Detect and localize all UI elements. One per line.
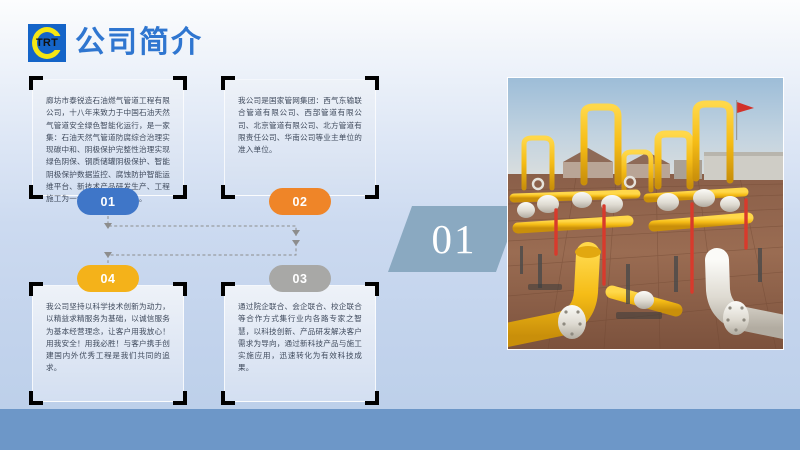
corner-bracket-top-right xyxy=(173,282,187,296)
corner-bracket-top-left xyxy=(221,76,235,90)
content-box-03-text: 通过院企联合、会企联合、校企联合等合作方式集行业内各路专家之智慧，以科技创新、产… xyxy=(238,301,362,375)
content-box-02: 我公司是国家管网集团：西气东输联合管道有限公司、西部管道有限公司、北京管道有限公… xyxy=(224,79,376,196)
corner-bracket-bottom-right xyxy=(365,391,379,405)
footer-band xyxy=(0,409,800,450)
logo-mark-label: TRT xyxy=(28,37,66,49)
corner-bracket-top-left xyxy=(221,282,235,296)
content-box-03: 通过院企联合、会企联合、校企联合等合作方式集行业内各路专家之智慧，以科技创新、产… xyxy=(224,285,376,402)
page-title: 公司简介 xyxy=(75,28,203,58)
corner-bracket-bottom-right xyxy=(173,185,187,199)
step-badge-03[interactable]: 03 xyxy=(269,265,331,292)
corner-bracket-top-left xyxy=(29,282,43,296)
corner-bracket-bottom-left xyxy=(29,185,43,199)
slide-canvas: TRT 公司简介 廊坊市泰锐造石油燃气管道工程有限公司，十八年来致力于中国石油天… xyxy=(0,0,800,450)
step-badge-04[interactable]: 04 xyxy=(77,265,139,292)
section-number-label: 01 xyxy=(400,206,508,272)
content-box-01: 廊坊市泰锐造石油燃气管道工程有限公司，十八年来致力于中国石油天然气管道安全绿色智… xyxy=(32,79,184,196)
corner-bracket-bottom-right xyxy=(173,391,187,405)
gas-pipeline-station-photo xyxy=(507,77,784,350)
slide-header: TRT 公司简介 xyxy=(28,24,203,62)
corner-bracket-bottom-left xyxy=(221,185,235,199)
corner-bracket-top-right xyxy=(173,76,187,90)
corner-bracket-top-right xyxy=(365,282,379,296)
content-box-04-text: 我公司坚持以科学技术创新为动力，以精益求精服务为基础，以诚信服务为基本经营理念，… xyxy=(46,301,170,375)
corner-bracket-bottom-left xyxy=(221,391,235,405)
step-badge-02[interactable]: 02 xyxy=(269,188,331,215)
corner-bracket-bottom-left xyxy=(29,391,43,405)
content-box-02-text: 我公司是国家管网集团：西气东输联合管道有限公司、西部管道有限公司、北京管道有限公… xyxy=(238,95,362,156)
trt-logo-icon: TRT xyxy=(28,24,66,62)
corner-bracket-bottom-right xyxy=(365,185,379,199)
step-badge-01[interactable]: 01 xyxy=(77,188,139,215)
corner-bracket-top-right xyxy=(365,76,379,90)
corner-bracket-top-left xyxy=(29,76,43,90)
content-box-04: 我公司坚持以科学技术创新为动力，以精益求精服务为基础，以诚信服务为基本经营理念，… xyxy=(32,285,184,402)
